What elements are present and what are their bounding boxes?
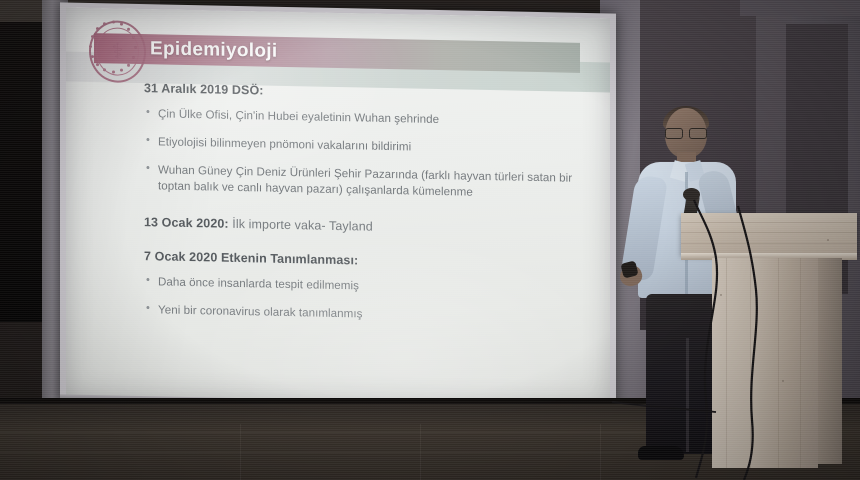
projection-screen: Epidemiyoloji ⚕ 31 Aralık 2019 DSÖ: Çin …	[60, 2, 616, 413]
glasses-icon	[665, 128, 707, 137]
wood-grain	[800, 258, 801, 468]
emblem-inner-ring: ⚕	[96, 27, 139, 76]
bullet-item: Çin Ülke Ofisi, Çin'in Hubei eyaletinin …	[144, 106, 590, 132]
ministry-of-health-emblem-icon: ⚕	[89, 20, 146, 83]
glasses-lens-left	[665, 128, 683, 139]
emblem-star	[103, 22, 106, 25]
slide-canvas: Epidemiyoloji ⚕ 31 Aralık 2019 DSÖ: Çin …	[66, 8, 610, 409]
podium-column-side	[818, 258, 842, 464]
podium-column	[712, 258, 818, 468]
microphone-icon	[683, 188, 700, 201]
bullet-item: Yeni bir coronavirus olarak tanımlanmış	[144, 302, 590, 328]
podium-screw	[782, 380, 784, 382]
wood-grain	[750, 258, 751, 468]
glasses-lens-right	[689, 128, 707, 139]
section-heading-bold: 13 Ocak 2020:	[144, 215, 229, 231]
page-title: Epidemiyoloji	[150, 38, 277, 63]
section-heading-bold: 31 Aralık 2019 DSÖ:	[144, 81, 264, 97]
presentation-photo: Epidemiyoloji ⚕ 31 Aralık 2019 DSÖ: Çin …	[0, 0, 860, 480]
podium-screw	[827, 239, 829, 241]
emblem-star	[89, 45, 92, 48]
emblem-star	[120, 23, 123, 26]
bullet-item: Daha önce insanlarda tespit edilmemiş	[144, 274, 590, 300]
wood-grain	[681, 243, 857, 244]
wall-trim	[740, 0, 860, 16]
slide-body: 31 Aralık 2019 DSÖ: Çin Ülke Ofisi, Çin'…	[144, 81, 590, 339]
bullet-item: Etiyolojisi bilinmeyen pnömoni vakaların…	[144, 134, 590, 160]
podium-screw	[720, 294, 722, 296]
slide-section: 31 Aralık 2019 DSÖ: Çin Ülke Ofisi, Çin'…	[144, 81, 590, 204]
floor-tile-line	[240, 424, 241, 480]
wood-grain	[681, 232, 857, 233]
wood-grain	[681, 222, 857, 223]
wood-grain	[778, 258, 779, 468]
presenter-shoe	[638, 446, 684, 460]
section-heading-rest: İlk importe vaka- Tayland	[229, 217, 373, 234]
floor-tile-line	[420, 424, 421, 480]
slide-section: 7 Ocak 2020 Etkenin Tanımlanması: Daha ö…	[144, 249, 590, 328]
emblem-star	[112, 20, 115, 23]
section-heading-bold: 7 Ocak 2020 Etkenin Tanımlanması:	[144, 249, 358, 267]
wood-grain	[726, 258, 727, 468]
emblem-star	[96, 27, 99, 30]
floor-tile-line	[0, 432, 700, 433]
emblem-star	[91, 55, 94, 58]
trouser-seam	[686, 338, 689, 452]
bullet-item: Wuhan Güney Çin Deniz Ürünleri Şehir Paz…	[144, 162, 590, 205]
podium-top-surface	[681, 213, 857, 255]
emblem-star	[91, 35, 94, 38]
floor-tile-line	[600, 424, 601, 480]
caduceus-icon: ⚕	[112, 40, 124, 62]
